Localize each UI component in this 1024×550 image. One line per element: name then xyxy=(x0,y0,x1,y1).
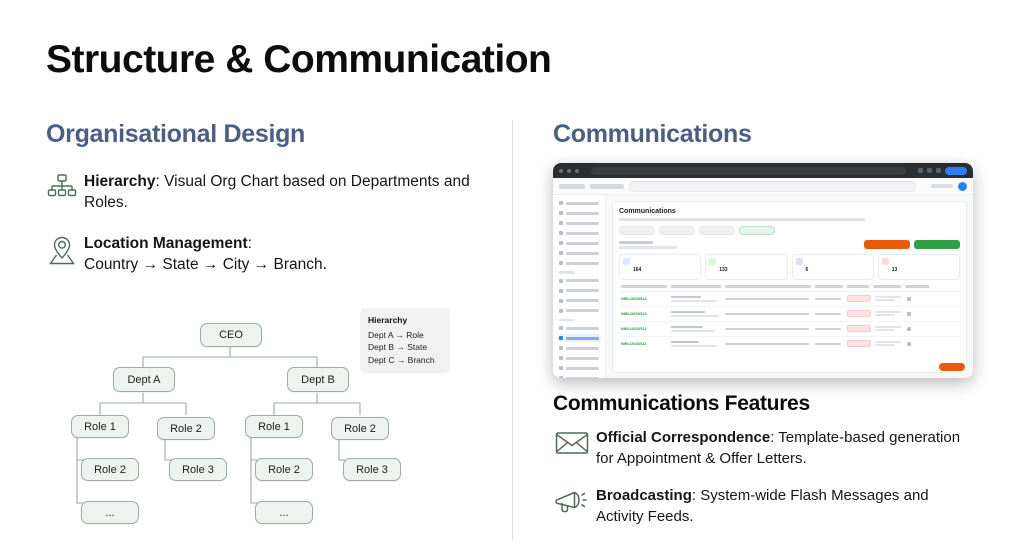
menu-icon xyxy=(559,261,563,265)
menu-icon xyxy=(559,279,563,283)
breadcrumb[interactable] xyxy=(559,184,585,189)
list-item-text: Broadcasting: System-wide Flash Messages… xyxy=(596,486,978,527)
breadcrumb-current[interactable] xyxy=(590,184,624,189)
tab-templates[interactable] xyxy=(619,226,655,235)
column-header-sent-on xyxy=(873,285,901,288)
user-name xyxy=(931,184,953,188)
send-reminder-button[interactable] xyxy=(864,240,910,249)
action-buttons xyxy=(864,240,960,249)
sidebar-item-label xyxy=(566,367,599,370)
org-node-dept-b[interactable]: Dept B xyxy=(287,367,349,392)
list-item: Official Correspondence: Template-based … xyxy=(548,428,978,469)
list-item-colon: : xyxy=(248,235,252,252)
list-item-label: Broadcasting xyxy=(596,487,692,504)
column-divider xyxy=(512,120,513,540)
address-bar[interactable] xyxy=(591,167,906,175)
org-node-dept-a[interactable]: Dept A xyxy=(113,367,175,392)
left-bullet-list: Hierarchy: Visual Org Chart based on Dep… xyxy=(40,170,470,294)
right-column-heading: Communications xyxy=(553,120,752,149)
list-item: Location Management:Country → State → Ci… xyxy=(40,232,470,276)
list-item-text: Location Management:Country → State → Ci… xyxy=(84,232,327,276)
cell-issue-date xyxy=(815,313,843,315)
sidebar-item[interactable] xyxy=(557,374,601,378)
sidebar-item[interactable] xyxy=(557,219,601,227)
list-item-label: Official Correspondence xyxy=(596,429,770,446)
sidebar-item[interactable] xyxy=(557,344,601,352)
envelope-icon xyxy=(548,428,596,456)
browser-chrome xyxy=(553,163,973,178)
sidebar-item-label xyxy=(566,212,599,215)
avatar[interactable] xyxy=(958,182,967,191)
overdue-icon xyxy=(882,258,889,265)
list-item-text: Official Correspondence: Template-based … xyxy=(596,428,978,469)
section-header xyxy=(619,240,960,249)
sidebar-item-label xyxy=(566,357,599,360)
org-node-dept-b-sub-more[interactable]: ... xyxy=(255,501,313,524)
sidebar-item-label xyxy=(566,347,599,350)
reload-icon[interactable] xyxy=(575,169,579,173)
cell-sent-on xyxy=(875,311,903,317)
cell-issue-date xyxy=(815,298,843,300)
app-screenshot: Communications xyxy=(553,163,973,378)
stat-card[interactable]: 13 xyxy=(878,254,960,280)
generate-offer-letter-button[interactable] xyxy=(914,240,960,249)
list-item-label: Location Management xyxy=(84,235,248,252)
list-item: Broadcasting: System-wide Flash Messages… xyxy=(548,486,978,527)
stat-value: 133 xyxy=(719,267,727,273)
sidebar-item-label xyxy=(566,202,599,205)
cell-issue-date xyxy=(815,328,843,330)
section-subtitle xyxy=(619,246,677,249)
sidebar-item[interactable] xyxy=(557,239,601,247)
cell-sent-on xyxy=(875,341,903,347)
table-row[interactable]: NIRL/2025/111 xyxy=(619,337,960,351)
menu-icon xyxy=(559,366,563,370)
megaphone-icon xyxy=(548,486,596,516)
sidebar-section-label xyxy=(559,271,575,274)
sidebar-item-communications[interactable] xyxy=(557,334,601,342)
forward-icon[interactable] xyxy=(567,169,571,173)
app-page-subtitle xyxy=(619,218,865,221)
menu-icon xyxy=(559,299,563,303)
org-node-dept-a-role-1[interactable]: Role 1 xyxy=(71,415,129,438)
stat-value: 6 xyxy=(806,267,809,273)
sidebar-item-label xyxy=(566,337,599,340)
sidebar-item-label xyxy=(566,242,599,245)
app-content: Communications xyxy=(606,195,973,378)
sidebar-item[interactable] xyxy=(557,307,601,315)
sidebar-group xyxy=(557,277,601,315)
menu-icon xyxy=(559,221,563,225)
org-node-dept-a-sub-1[interactable]: Role 2 xyxy=(81,458,139,481)
org-chart-legend: Hierarchy Dept A → Role Dept B → State D… xyxy=(360,308,450,373)
legend-row: Dept C → Branch xyxy=(368,354,442,366)
sidebar-item-label xyxy=(566,299,599,302)
cell-reference: NIRL/2025/114 xyxy=(621,296,667,301)
menu-icon xyxy=(559,346,563,350)
sidebar-item[interactable] xyxy=(557,354,601,362)
share-button[interactable] xyxy=(945,167,967,175)
status-badge xyxy=(847,340,871,347)
org-node-dept-b-role-2[interactable]: Role 2 xyxy=(331,417,389,440)
cell-employee xyxy=(671,341,721,347)
table-row[interactable]: NIRL/2025/113 xyxy=(619,307,960,322)
column-header-subject xyxy=(725,285,811,288)
app-topbar xyxy=(553,178,973,195)
menu-icon xyxy=(559,251,563,255)
sidebar-item-label xyxy=(566,222,599,225)
cell-employee xyxy=(671,296,721,302)
table-row[interactable]: NIRL/2025/114 xyxy=(619,292,960,307)
sidebar-item-label xyxy=(566,327,599,330)
page-title: Structure & Communication xyxy=(46,38,551,82)
sidebar-item[interactable] xyxy=(557,287,601,295)
stat-card[interactable]: 133 xyxy=(705,254,787,280)
cell-subject xyxy=(725,328,811,330)
cell-employee xyxy=(671,311,721,317)
left-column-heading: Organisational Design xyxy=(46,120,305,149)
legend-title: Hierarchy xyxy=(368,315,442,325)
org-node-dept-a-sub-2[interactable]: Role 3 xyxy=(169,458,227,481)
menu-icon xyxy=(559,201,563,205)
sidebar-item[interactable] xyxy=(557,249,601,257)
sidebar-item[interactable] xyxy=(557,297,601,305)
sidebar-item-label xyxy=(566,262,599,265)
tab-correspondence[interactable] xyxy=(659,226,695,235)
sidebar-item[interactable] xyxy=(557,277,601,285)
status-badge xyxy=(847,325,871,332)
legend-row: Dept B → State xyxy=(368,341,442,353)
tab-bar xyxy=(619,226,960,235)
extension-icon[interactable] xyxy=(918,168,923,173)
sidebar-group xyxy=(557,199,601,267)
stat-card[interactable]: 6 xyxy=(792,254,874,280)
org-node-dept-b-sub-1[interactable]: Role 2 xyxy=(255,458,313,481)
tab-campaigns[interactable] xyxy=(699,226,735,235)
cell-subject xyxy=(725,343,811,345)
list-item-desc: Country → State → City → Branch. xyxy=(84,256,327,273)
sidebar-item[interactable] xyxy=(557,364,601,372)
menu-icon xyxy=(559,289,563,293)
table-row[interactable]: NIRL/2025/112 xyxy=(619,322,960,337)
list-item: Hierarchy: Visual Org Chart based on Dep… xyxy=(40,170,470,214)
cell-reference: NIRL/2025/112 xyxy=(621,326,667,331)
row-actions-icon[interactable] xyxy=(907,297,911,301)
sidebar-item-label xyxy=(566,377,599,379)
floating-action-button[interactable] xyxy=(939,363,965,371)
column-header-employee xyxy=(671,285,721,288)
column-header-actions xyxy=(905,285,929,288)
location-pin-icon xyxy=(40,232,84,266)
column-header-reference xyxy=(621,285,667,288)
sidebar-item[interactable] xyxy=(557,209,601,217)
sidebar-item[interactable] xyxy=(557,259,601,267)
sidebar-item[interactable] xyxy=(557,199,601,207)
back-icon[interactable] xyxy=(559,169,563,173)
app-sidebar xyxy=(553,195,606,378)
bookmark-icon[interactable] xyxy=(927,168,932,173)
sidebar-item-label xyxy=(566,289,599,292)
column-header-issue-date xyxy=(815,285,843,288)
row-actions-icon[interactable] xyxy=(907,342,911,346)
org-chart-icon xyxy=(40,170,84,202)
communications-features-list: Official Correspondence: Template-based … xyxy=(548,428,978,545)
org-node-dept-b-role-1[interactable]: Role 1 xyxy=(245,415,303,438)
search-input[interactable] xyxy=(629,181,916,192)
sidebar-group xyxy=(557,324,601,378)
list-item-text: Hierarchy: Visual Org Chart based on Dep… xyxy=(84,170,470,214)
cell-issue-date xyxy=(815,343,843,345)
slide-root: Structure & Communication Organisational… xyxy=(0,0,1024,550)
menu-icon xyxy=(559,309,563,313)
menu-icon xyxy=(559,231,563,235)
stat-value: 164 xyxy=(633,267,641,273)
cell-reference: NIRL/2025/111 xyxy=(621,341,667,346)
menu-icon xyxy=(559,356,563,360)
stat-value: 13 xyxy=(892,267,898,273)
pending-icon xyxy=(796,258,803,265)
total-icon xyxy=(623,258,630,265)
sidebar-item[interactable] xyxy=(557,229,601,237)
row-actions-icon[interactable] xyxy=(907,312,911,316)
org-chart-diagram: CEO Dept A Dept B Role 1 Role 2 Role 1 R… xyxy=(55,305,475,545)
cell-subject xyxy=(725,298,811,300)
org-node-ceo[interactable]: CEO xyxy=(200,323,262,347)
menu-icon xyxy=(559,376,563,378)
app-page-title: Communications xyxy=(619,208,960,215)
status-badge xyxy=(847,310,871,317)
column-header-status xyxy=(847,285,869,288)
org-node-dept-a-role-2[interactable]: Role 2 xyxy=(157,417,215,440)
org-node-dept-b-sub-2[interactable]: Role 3 xyxy=(343,458,401,481)
cell-employee xyxy=(671,326,721,332)
section-title xyxy=(619,241,653,245)
org-node-dept-a-sub-more[interactable]: ... xyxy=(81,501,139,524)
stat-cards: 164 133 6 13 xyxy=(619,254,960,280)
profile-icon[interactable] xyxy=(936,168,941,173)
menu-icon xyxy=(559,241,563,245)
menu-icon xyxy=(559,326,563,330)
features-heading: Communications Features xyxy=(553,392,810,416)
app-body: Communications xyxy=(553,195,973,378)
tab-offer-letters[interactable] xyxy=(739,226,775,235)
cell-sent-on xyxy=(875,296,903,302)
cell-subject xyxy=(725,313,811,315)
sidebar-section-label xyxy=(559,319,575,322)
stat-card[interactable]: 164 xyxy=(619,254,701,280)
sidebar-item-label xyxy=(566,252,599,255)
list-item-label: Hierarchy xyxy=(84,173,156,190)
sidebar-item-label xyxy=(566,279,599,282)
sidebar-item[interactable] xyxy=(557,324,601,332)
section-title-group xyxy=(619,241,677,249)
row-actions-icon[interactable] xyxy=(907,327,911,331)
menu-icon xyxy=(559,211,563,215)
sidebar-item-label xyxy=(566,309,599,312)
communications-card: Communications xyxy=(612,201,967,373)
status-badge xyxy=(847,295,871,302)
cell-sent-on xyxy=(875,326,903,332)
cell-reference: NIRL/2025/113 xyxy=(621,311,667,316)
legend-row: Dept A → Role xyxy=(368,329,442,341)
sent-icon xyxy=(709,258,716,265)
mail-icon xyxy=(559,336,563,340)
sidebar-item-label xyxy=(566,232,599,235)
